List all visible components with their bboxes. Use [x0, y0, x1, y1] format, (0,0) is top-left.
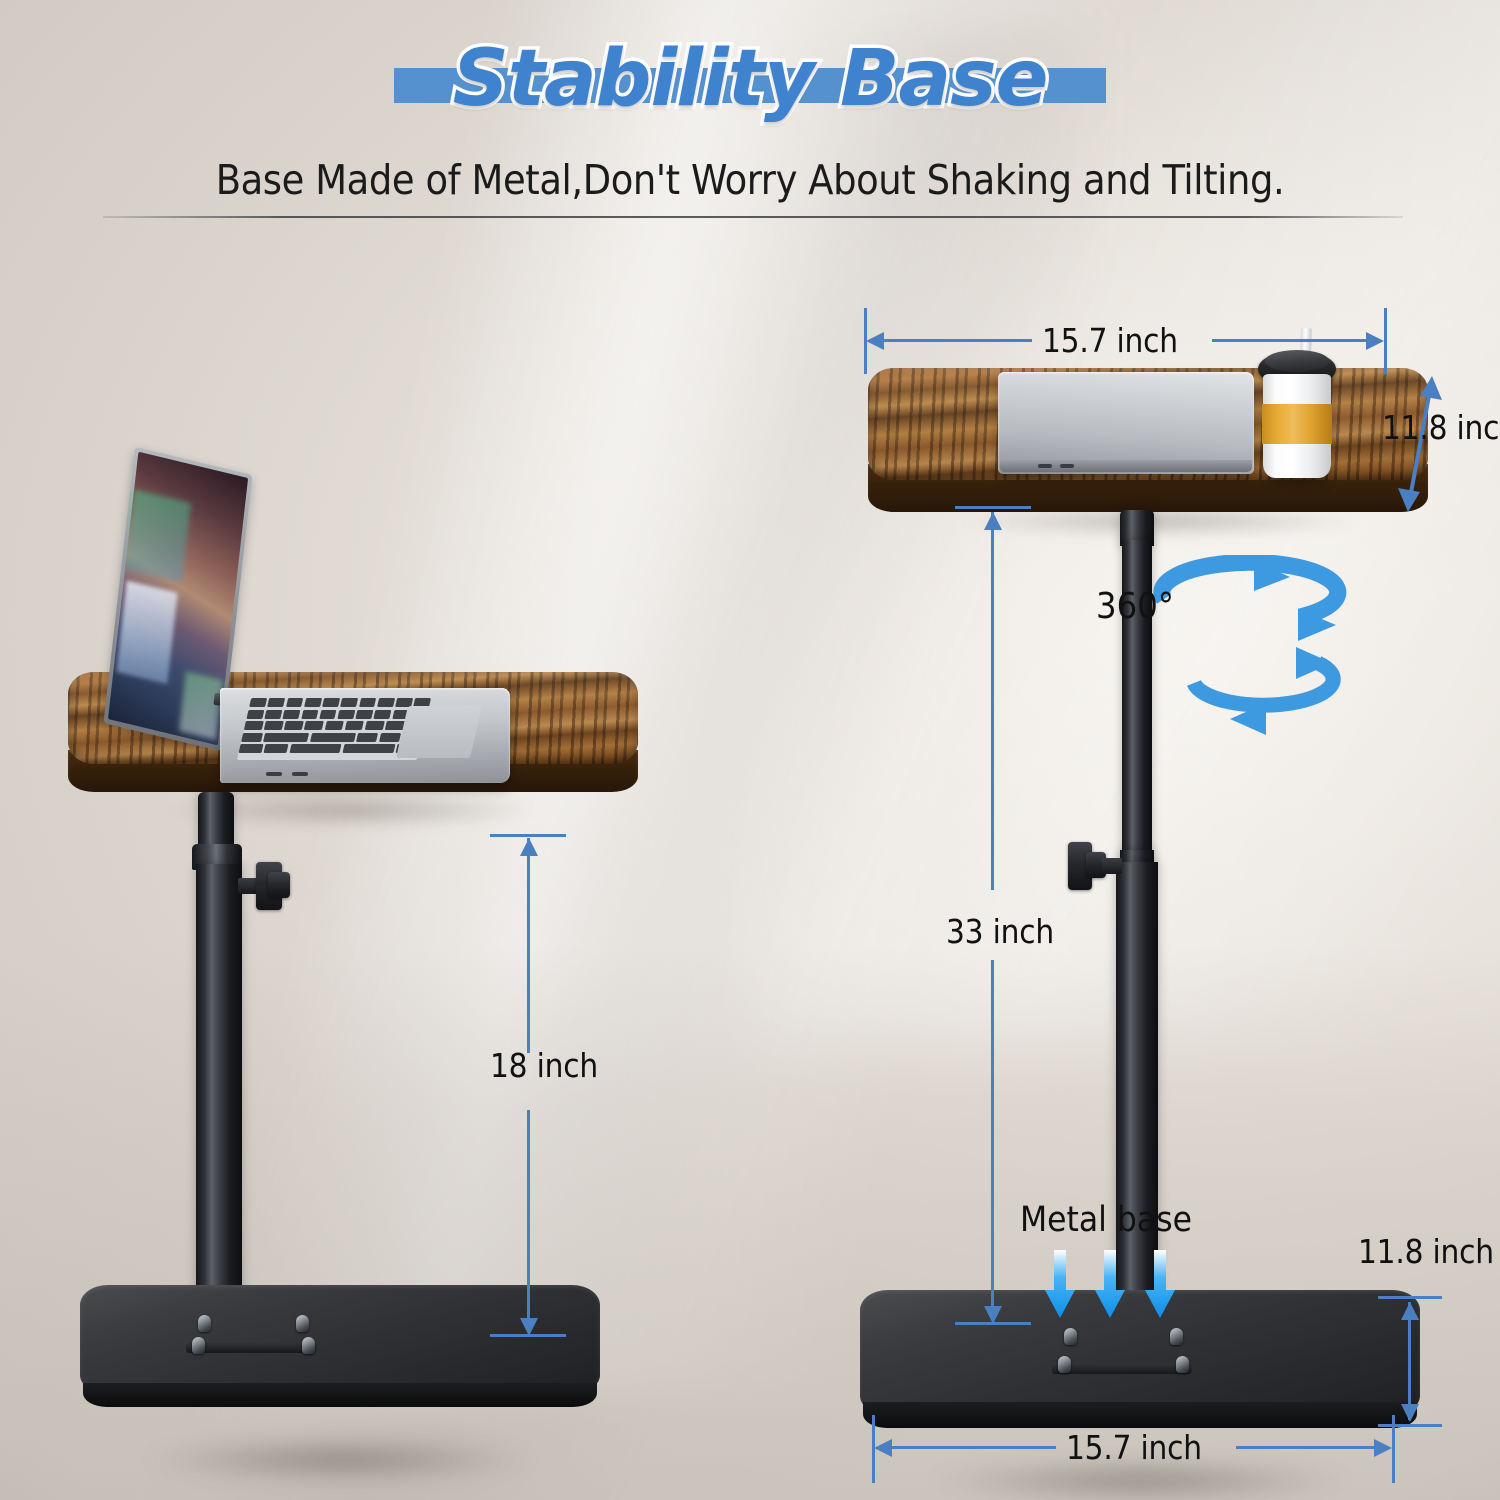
dimension-line-horizontal — [890, 1446, 1056, 1449]
key — [265, 710, 283, 719]
key — [301, 710, 319, 719]
open-laptop — [110, 460, 510, 790]
dimension-arrow-down — [1401, 1404, 1419, 1422]
rotation-360-icon — [1150, 555, 1410, 745]
dimension-line-horizontal — [1212, 339, 1368, 342]
key — [345, 721, 365, 730]
base-front-edge — [863, 1402, 1417, 1428]
base-bolt — [302, 1337, 315, 1354]
base-width-label: 15.7 inch — [1066, 1428, 1202, 1467]
base-depth-label: 11.8 inch — [1358, 1232, 1494, 1271]
closed-laptop — [998, 372, 1254, 474]
down-arrow-icon — [1045, 1250, 1075, 1320]
left-product — [0, 440, 700, 1500]
dimension-arrow-up — [984, 512, 1002, 530]
left-height-knob[interactable] — [238, 858, 294, 914]
key — [244, 721, 264, 730]
keyboard-row — [249, 698, 431, 707]
key — [340, 698, 358, 707]
key — [356, 710, 374, 719]
key — [267, 698, 285, 707]
key — [377, 698, 395, 707]
cup-lid-top — [1265, 350, 1329, 372]
dimension-line-vertical — [527, 1110, 530, 1332]
dimension-line-vertical — [527, 838, 530, 1053]
key — [319, 710, 337, 719]
key — [289, 744, 342, 753]
key — [264, 744, 289, 753]
base-bolt — [1176, 1356, 1189, 1373]
key — [264, 733, 310, 742]
dimension-arrow-right — [1366, 332, 1384, 350]
dimension-arrow-right — [1374, 1439, 1392, 1457]
left-metal-base — [80, 1285, 600, 1415]
dimension-tick-bottom — [955, 1322, 1031, 1325]
right-metal-base — [860, 1290, 1420, 1440]
cup-sleeve — [1262, 404, 1332, 444]
infographic-canvas: Stability Base Base Made of Metal,Don't … — [0, 0, 1500, 1500]
laptop-port — [292, 772, 308, 776]
keyboard-row — [238, 744, 420, 753]
rotation-label: 360° — [1096, 586, 1174, 627]
dimension-tick-bottom — [1378, 1424, 1442, 1427]
laptop-keyboard-deck — [220, 688, 510, 783]
key — [337, 710, 355, 719]
key — [304, 698, 322, 707]
dimension-line-horizontal — [1236, 1446, 1376, 1449]
dimension-tick-top — [490, 834, 566, 837]
dimension-line-vertical — [991, 960, 994, 1320]
key — [342, 744, 395, 753]
knob-wing — [268, 872, 290, 898]
page-title: Stability Base — [453, 34, 1048, 124]
laptop-lid — [998, 372, 1254, 474]
keyboard-row — [246, 710, 428, 719]
keyboard-row — [244, 721, 426, 730]
base-surface — [80, 1285, 600, 1393]
key — [310, 733, 356, 742]
dimension-line-vertical — [991, 512, 994, 890]
wallpaper-region-c — [179, 672, 223, 740]
key — [324, 721, 344, 730]
key — [322, 698, 340, 707]
key — [264, 721, 284, 730]
laptop-trackpad — [396, 706, 482, 758]
down-arrow-icon — [1095, 1250, 1125, 1320]
top-depth-label: 11.8 inch — [1382, 408, 1500, 447]
key — [359, 698, 377, 707]
coffee-cup — [1256, 328, 1338, 488]
header: Stability Base Base Made of Metal,Don't … — [0, 0, 1500, 240]
left-pole-lower — [196, 864, 242, 1332]
key — [246, 710, 264, 719]
top-width-label: 15.7 inch — [1042, 321, 1178, 360]
key — [249, 698, 267, 707]
base-bolt — [1064, 1328, 1077, 1345]
dimension-arrow-up — [520, 838, 538, 856]
laptop-port — [1038, 464, 1052, 468]
laptop-port — [266, 772, 282, 776]
wallpaper-region-b — [117, 581, 178, 684]
dimension-arrow-left — [866, 332, 884, 350]
subtitle-divider — [103, 216, 1403, 218]
down-arrow-icon — [1145, 1250, 1175, 1320]
key — [286, 698, 304, 707]
page-subtitle: Base Made of Metal,Don't Worry About Sha… — [0, 156, 1500, 204]
dimension-tick-right — [1384, 308, 1387, 374]
wallpaper-region-a — [125, 489, 191, 583]
base-bolt — [198, 1315, 211, 1332]
title-container: Stability Base — [0, 34, 1500, 124]
base-surface — [860, 1290, 1420, 1414]
key — [283, 710, 301, 719]
keyboard-row — [241, 733, 423, 742]
dimension-arrow-left — [874, 1439, 892, 1457]
left-height-label: 18 inch — [490, 1046, 598, 1085]
key — [241, 733, 263, 742]
key — [379, 733, 401, 742]
dimension-line-horizontal — [882, 339, 1032, 342]
knob-stem — [1102, 858, 1122, 874]
key — [284, 721, 304, 730]
right-height-knob[interactable] — [1068, 838, 1128, 894]
base-bolt-plate — [1052, 1364, 1192, 1374]
key — [304, 721, 324, 730]
key — [238, 744, 263, 753]
base-bolt — [1170, 1328, 1183, 1345]
metal-base-label: Metal base — [1020, 1200, 1192, 1240]
laptop-port — [1060, 464, 1074, 468]
base-bolt-plate — [186, 1343, 316, 1353]
dimension-tick-bottom — [490, 1334, 566, 1337]
base-bolt — [296, 1315, 309, 1332]
key — [365, 721, 385, 730]
tabletop-shadow — [90, 785, 610, 835]
base-bolt — [192, 1337, 205, 1354]
base-bolt — [1058, 1356, 1071, 1373]
key — [374, 710, 392, 719]
key — [356, 733, 378, 742]
right-height-label: 33 inch — [946, 912, 1054, 951]
dimension-arrow-up — [1401, 1302, 1419, 1320]
dimension-tick-top — [955, 506, 1031, 509]
dimension-tick-top — [1378, 1296, 1442, 1299]
base-front-edge — [83, 1383, 597, 1407]
base-shadow — [60, 1430, 620, 1490]
